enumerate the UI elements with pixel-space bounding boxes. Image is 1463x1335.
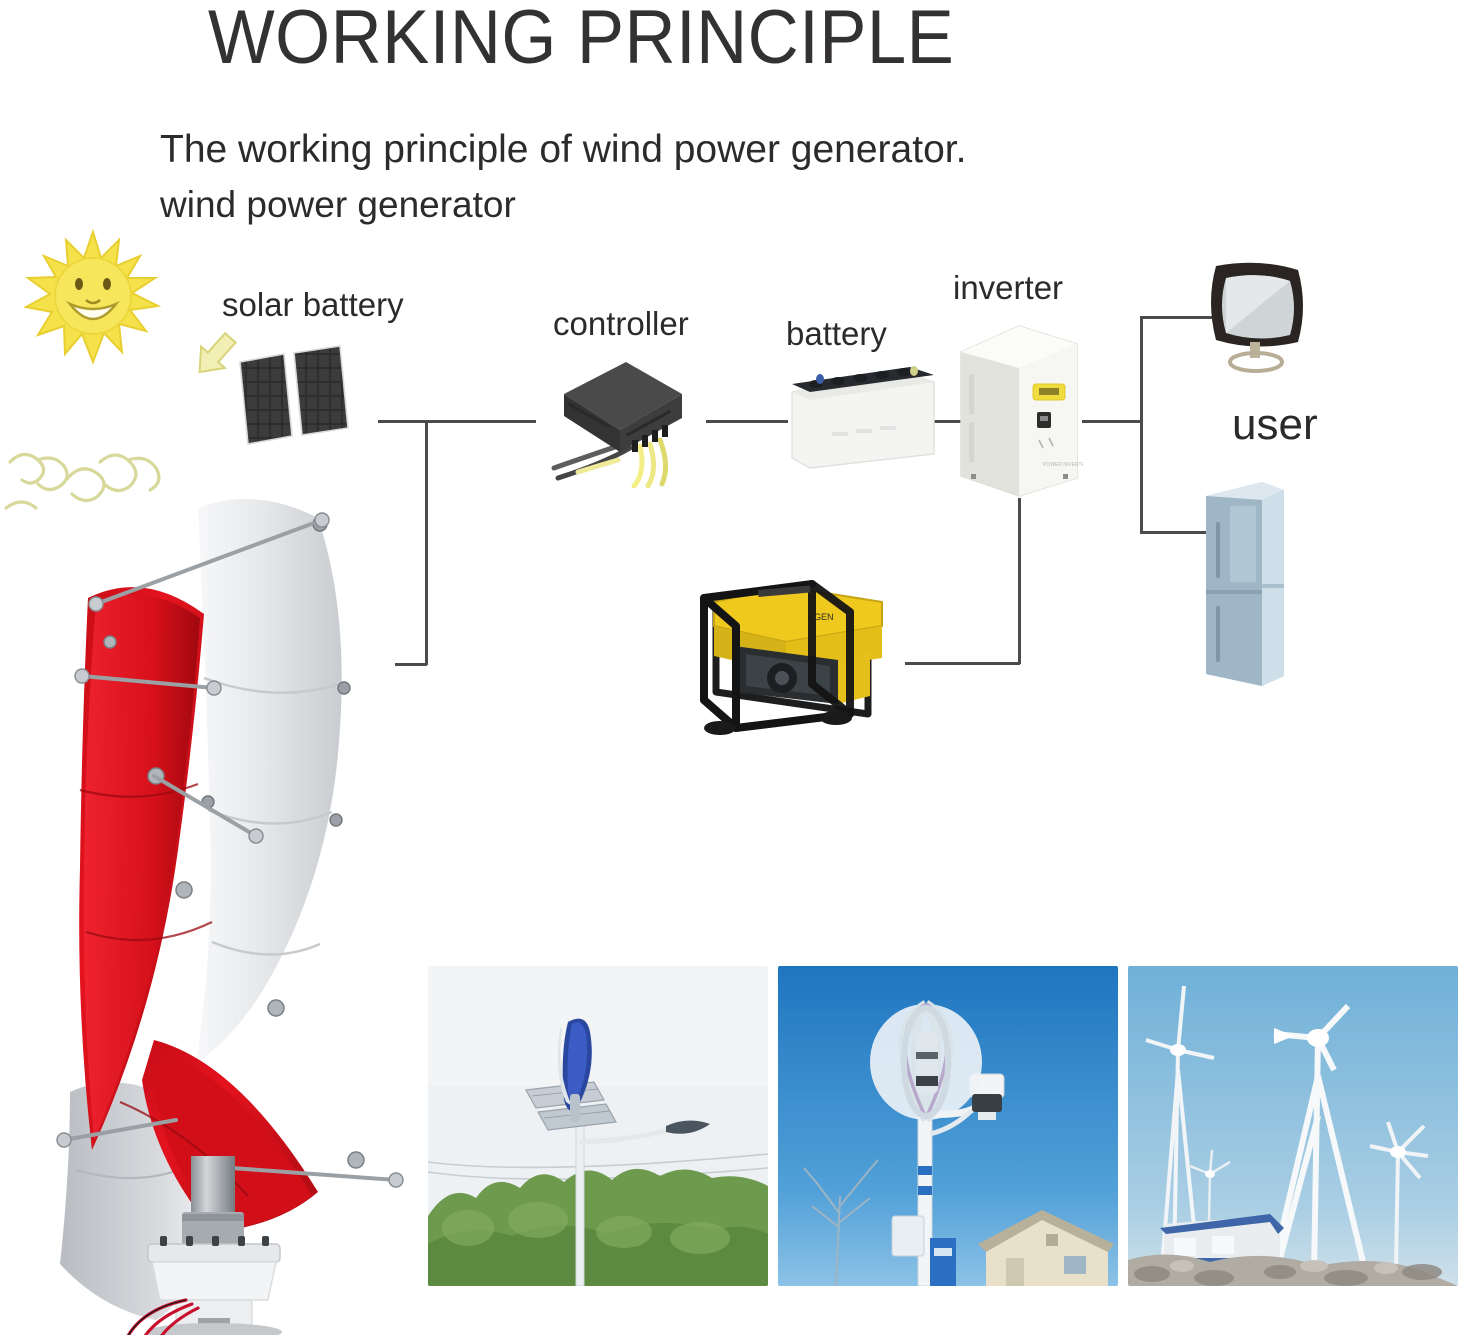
page-subtitle: The working principle of wind power gene… xyxy=(160,128,966,172)
wire-user-bus xyxy=(1140,316,1143,534)
wire-controller-to-battery xyxy=(706,420,788,423)
solar-panel-icon xyxy=(222,340,372,450)
controller-box-icon xyxy=(548,348,698,488)
page-title: WORKING PRINCIPLE xyxy=(208,0,954,81)
wire-solar-to-bus xyxy=(378,420,536,423)
label-inverter: inverter xyxy=(953,269,1063,307)
label-user: user xyxy=(1232,400,1318,450)
gasoline-generator-icon: GEN xyxy=(686,568,908,736)
photo-wind-farm xyxy=(1128,966,1458,1286)
wire-inverter-down xyxy=(1018,498,1021,664)
refrigerator-icon xyxy=(1200,478,1288,690)
wire-inverter-to-userbus xyxy=(1082,420,1142,423)
inverter-cabinet-icon: POWER INVERTER xyxy=(955,318,1083,500)
page-subtitle-secondary: wind power generator xyxy=(160,184,516,226)
working-principle-infographic: WORKING PRINCIPLE The working principle … xyxy=(0,0,1463,1335)
label-battery: battery xyxy=(786,315,887,353)
photo-solar-wind-street-light xyxy=(428,966,768,1286)
lead-acid-battery-icon xyxy=(786,362,938,472)
label-controller: controller xyxy=(553,305,689,343)
svg-text:GEN: GEN xyxy=(814,612,834,622)
vertical-wind-turbine-icon xyxy=(36,480,436,1335)
television-icon xyxy=(1198,258,1318,382)
wire-userbus-to-fridge xyxy=(1140,531,1208,534)
photo-maglev-spherical-turbine xyxy=(778,966,1118,1286)
label-solar-battery: solar battery xyxy=(222,286,404,324)
smiling-sun-icon xyxy=(22,228,164,370)
wire-generator-to-inverter xyxy=(905,662,1020,665)
svg-text:POWER INVERTER: POWER INVERTER xyxy=(1043,462,1083,468)
